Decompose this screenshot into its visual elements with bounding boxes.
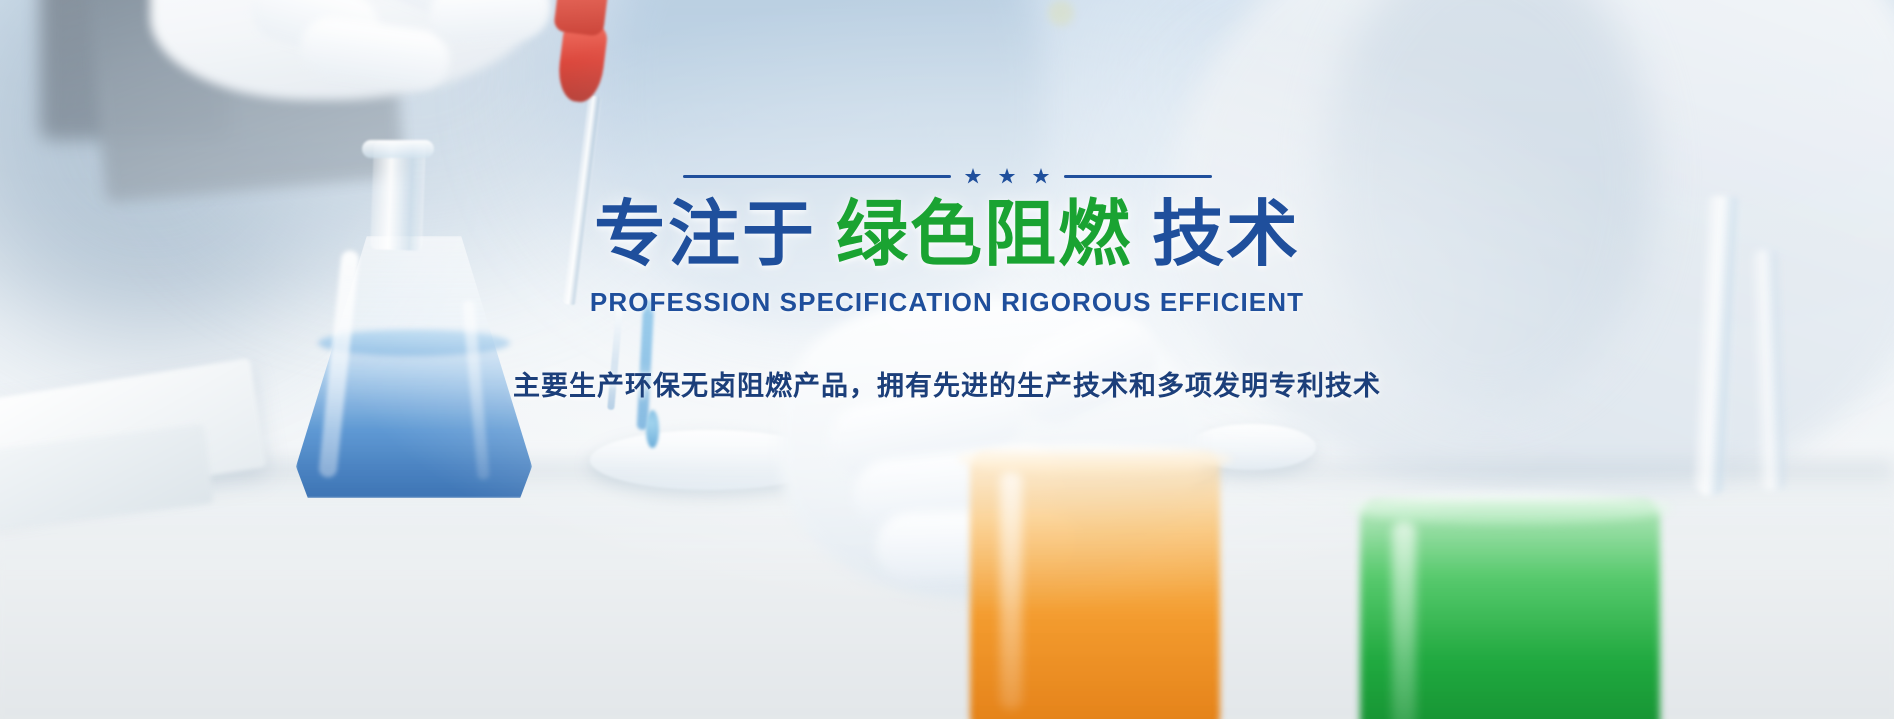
decorative-divider — [683, 168, 1212, 185]
star-icon — [999, 168, 1016, 185]
banner-content: 专注于绿色阻燃技术 PROFESSION SPECIFICATION RIGOR… — [0, 0, 1894, 719]
star-icon — [1033, 168, 1050, 185]
hero-banner: 专注于绿色阻燃技术 PROFESSION SPECIFICATION RIGOR… — [0, 0, 1894, 719]
star-group — [965, 168, 1050, 185]
tagline: 主要生产环保无卤阻燃产品，拥有先进的生产技术和多项发明专利技术 — [513, 364, 1381, 403]
headline-part-3: 技术 — [1152, 195, 1300, 275]
headline-part-1: 专注于 — [594, 195, 816, 275]
divider-rule-left — [683, 175, 951, 178]
divider-rule-right — [1064, 175, 1212, 178]
star-icon — [965, 168, 982, 185]
page-title: 专注于绿色阻燃技术 — [594, 197, 1300, 275]
english-subtitle: PROFESSION SPECIFICATION RIGOROUS EFFICI… — [590, 287, 1304, 318]
headline-part-2: 绿色阻燃 — [836, 195, 1132, 275]
